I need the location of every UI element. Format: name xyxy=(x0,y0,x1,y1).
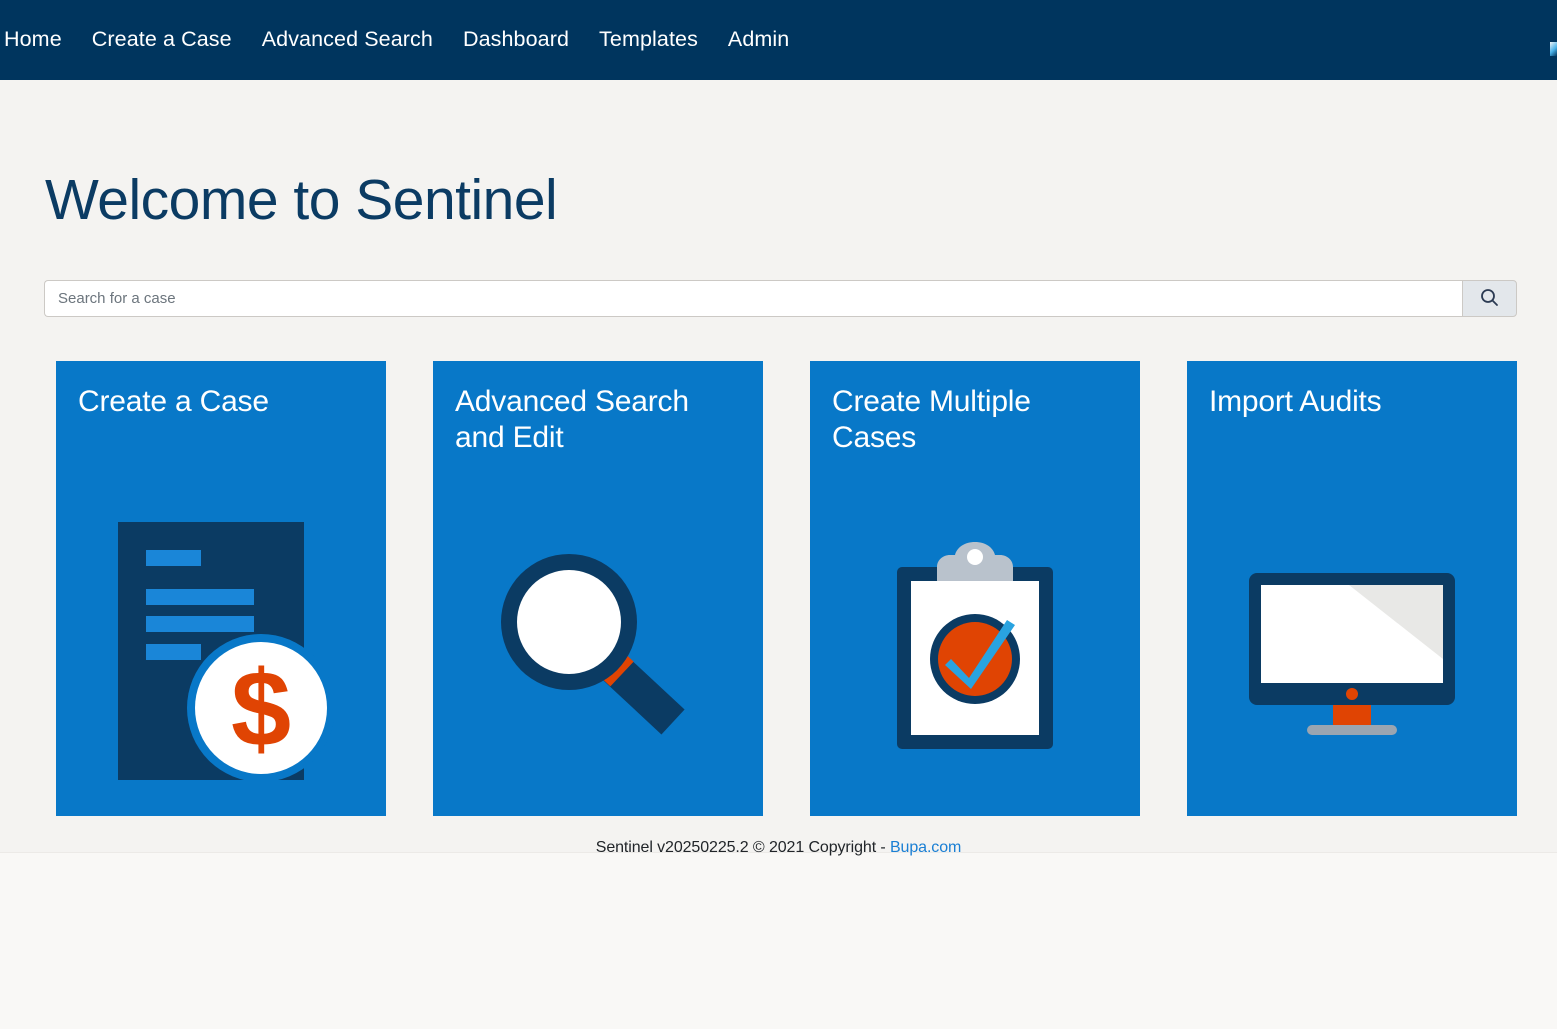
search-button[interactable] xyxy=(1462,280,1517,317)
nav-item-advanced-search[interactable]: Advanced Search xyxy=(262,29,433,51)
nav-overflow-indicator-icon[interactable] xyxy=(1550,42,1557,56)
top-navigation-bar: Home Create a Case Advanced Search Dashb… xyxy=(0,0,1557,80)
tile-create-multiple-cases[interactable]: Create Multiple Cases xyxy=(810,361,1140,816)
nav-item-templates[interactable]: Templates xyxy=(599,29,698,51)
nav-items: Home Create a Case Advanced Search Dashb… xyxy=(0,0,819,80)
search-bar xyxy=(44,280,1517,317)
page-title: Welcome to Sentinel xyxy=(40,80,1517,229)
tile-title: Create Multiple Cases xyxy=(810,361,1140,456)
below-fold-area xyxy=(0,852,1557,1029)
monitor-icon xyxy=(1187,486,1517,816)
tile-title: Create a Case xyxy=(56,361,386,420)
tile-title: Advanced Search and Edit xyxy=(433,361,763,456)
footer: Sentinel v20250225.2 © 2021 Copyright - … xyxy=(40,816,1517,857)
tile-create-a-case[interactable]: Create a Case $ xyxy=(56,361,386,816)
tile-import-audits[interactable]: Import Audits xyxy=(1187,361,1517,816)
nav-item-create-a-case[interactable]: Create a Case xyxy=(92,29,232,51)
nav-item-dashboard[interactable]: Dashboard xyxy=(463,29,569,51)
tile-grid: Create a Case $ xyxy=(56,361,1517,816)
search-input[interactable] xyxy=(44,280,1462,317)
clipboard-check-icon xyxy=(810,486,1140,816)
footer-text: Sentinel v20250225.2 © 2021 Copyright - xyxy=(596,839,890,856)
search-icon xyxy=(1480,288,1499,310)
footer-link-bupa[interactable]: Bupa.com xyxy=(890,839,961,856)
tile-title: Import Audits xyxy=(1187,361,1517,420)
nav-item-home[interactable]: Home xyxy=(4,29,62,51)
svg-text:$: $ xyxy=(231,648,291,769)
nav-item-admin[interactable]: Admin xyxy=(728,29,789,51)
page-content: Welcome to Sentinel Create a Case xyxy=(0,80,1557,852)
tile-advanced-search-and-edit[interactable]: Advanced Search and Edit xyxy=(433,361,763,816)
document-dollar-icon: $ xyxy=(56,486,386,816)
magnifying-glass-icon xyxy=(433,486,763,816)
